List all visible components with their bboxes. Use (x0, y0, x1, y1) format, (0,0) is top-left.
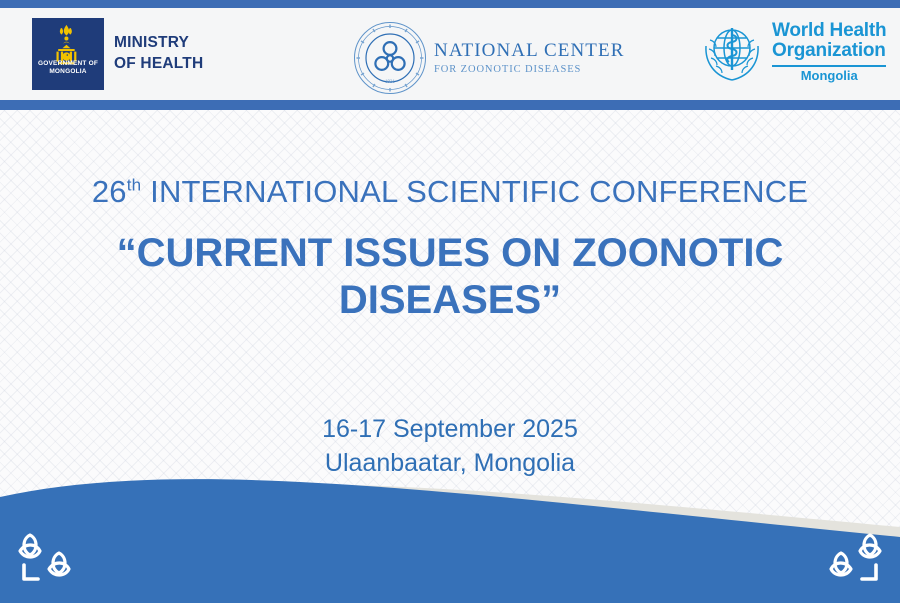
who-line1: World Health (772, 21, 886, 42)
ministry-of-health-name: MINISTRY OF HEALTH (114, 33, 203, 75)
who-wordmark: World Health Organization Mongolia (772, 21, 886, 83)
nczd-seal-icon: 1931 (352, 20, 428, 96)
ministry-of-health-logo: GOVERNMENT OF MONGOLIA MINISTRY OF HEALT… (32, 18, 203, 90)
emblem-caption-line2: MONGOLIA (49, 68, 86, 75)
national-center-logo: 1931 NATIONAL CENTER FOR ZOONOTIC DISEAS… (352, 20, 624, 96)
emblem-caption-line1: GOVERNMENT OF (38, 60, 98, 67)
nczd-line1: NATIONAL CENTER (434, 41, 624, 62)
conference-theme: “CURRENT ISSUES ON ZOONOTIC DISEASES” (0, 230, 900, 324)
top-accent-bar (0, 0, 900, 8)
wave-blue-shape (0, 453, 900, 603)
svg-text:1931: 1931 (385, 80, 396, 85)
who-divider (772, 65, 886, 67)
mongolian-knot-ornament-right (816, 529, 886, 585)
conference-title-slide: GOVERNMENT OF MONGOLIA MINISTRY OF HEALT… (0, 0, 900, 603)
mongolian-knot-ornament-left (14, 529, 84, 585)
nczd-wordmark: NATIONAL CENTER FOR ZOONOTIC DISEASES (434, 41, 624, 75)
conference-ordinal: th (127, 176, 142, 195)
who-logo: World Health Organization Mongolia (700, 20, 886, 84)
title-block: 26th INTERNATIONAL SCIENTIFIC CONFERENCE… (0, 174, 900, 324)
conference-heading: 26th INTERNATIONAL SCIENTIFIC CONFERENCE (0, 174, 900, 210)
conference-number: 26 (92, 174, 127, 209)
who-country: Mongolia (772, 69, 886, 83)
who-emblem-icon (700, 20, 764, 84)
header-divider-bar (0, 100, 900, 110)
conference-heading-text: INTERNATIONAL SCIENTIFIC CONFERENCE (141, 174, 808, 209)
nczd-line2: FOR ZOONOTIC DISEASES (434, 64, 624, 76)
mongolia-state-emblem-icon: GOVERNMENT OF MONGOLIA (32, 18, 104, 90)
emblem-caption: GOVERNMENT OF MONGOLIA (32, 60, 104, 76)
event-date: 16-17 September 2025 (0, 412, 900, 446)
who-line2: Organization (772, 41, 886, 62)
